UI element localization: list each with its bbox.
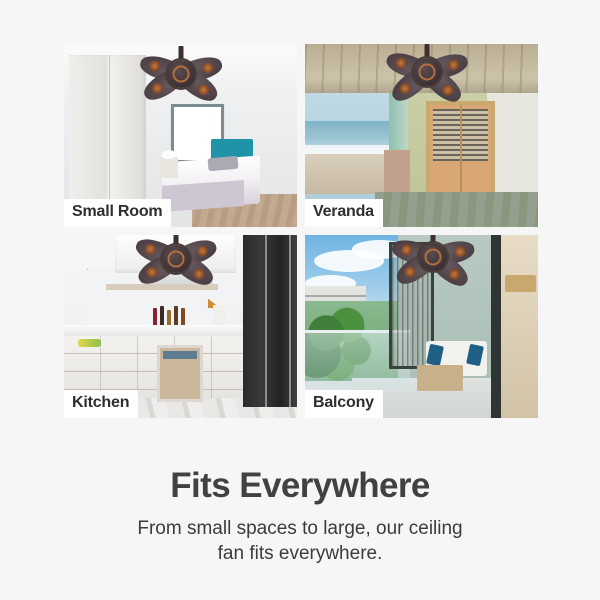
ceiling-fan-icon xyxy=(128,46,234,102)
nightstand xyxy=(160,157,179,177)
subheadline: From small spaces to large, our ceiling … xyxy=(90,516,510,566)
fan-downrod xyxy=(173,235,178,245)
sliding-door-frame xyxy=(491,235,500,418)
fan-hub xyxy=(419,243,447,271)
fan-blade-accent xyxy=(144,265,159,280)
fan-blade-accent xyxy=(402,265,417,280)
bottle xyxy=(174,306,178,324)
fan-blade-accent xyxy=(453,245,466,258)
fan-hub xyxy=(167,60,195,88)
bottle xyxy=(153,308,157,324)
fan-blade-accent xyxy=(399,244,412,257)
fan-blade-accent xyxy=(397,81,412,96)
fan-blade-accent xyxy=(440,82,455,97)
fan-blade-accent xyxy=(150,81,165,96)
ceiling-fan-icon xyxy=(374,44,480,100)
door-louvers xyxy=(433,109,489,161)
room-panel-grid: Small Room xyxy=(64,44,538,418)
subheadline-line-2: fan fits everywhere. xyxy=(90,541,510,566)
panel-small-room[interactable]: Small Room xyxy=(64,44,297,227)
fan-downrod xyxy=(430,235,435,243)
panel-balcony[interactable]: Balcony xyxy=(305,235,538,418)
balcony-table xyxy=(417,365,464,391)
caption-block: Fits Everywhere From small spaces to lar… xyxy=(0,468,600,566)
fan-blade-accent xyxy=(195,244,209,258)
indoor-lamp xyxy=(505,275,535,291)
fan-blade-accent xyxy=(191,266,206,281)
fruit-bowl xyxy=(78,339,101,346)
decor-vase xyxy=(213,305,225,325)
promo-canvas: Small Room xyxy=(0,0,600,600)
fan-blade-accent xyxy=(393,57,407,71)
fan-downrod xyxy=(424,44,429,58)
fan-blade-accent xyxy=(446,58,460,72)
panel-label: Veranda xyxy=(313,204,374,221)
panel-veranda[interactable]: Veranda xyxy=(305,44,538,227)
kitchen-oven xyxy=(157,345,203,402)
bottle xyxy=(167,310,171,325)
fan-downrod xyxy=(178,46,183,60)
indoor-room xyxy=(501,235,538,418)
fan-hub xyxy=(162,245,190,273)
panel-label: Small Room xyxy=(72,204,162,221)
fan-blade-accent xyxy=(143,243,157,257)
panel-label-chip: Small Room xyxy=(64,199,171,227)
panel-label-chip: Balcony xyxy=(305,390,383,418)
ceiling-fan-icon xyxy=(123,235,229,287)
fan-blade-accent xyxy=(446,266,461,281)
subheadline-line-1: From small spaces to large, our ceiling xyxy=(90,516,510,541)
veranda-door xyxy=(426,101,495,204)
bottle xyxy=(181,308,185,324)
kitchen-tall-unit xyxy=(243,235,297,407)
table-lamp xyxy=(162,150,176,159)
headline: Fits Everywhere xyxy=(0,468,600,503)
panel-kitchen[interactable]: Kitchen xyxy=(64,235,297,418)
veranda-deck xyxy=(375,192,538,227)
fan-blade-accent xyxy=(201,61,214,74)
panel-label-chip: Veranda xyxy=(305,199,383,227)
fan-hub xyxy=(413,58,441,86)
panel-label: Balcony xyxy=(313,395,374,412)
bottle xyxy=(160,306,164,324)
fan-blade-accent xyxy=(147,60,161,74)
kitchen-countertop xyxy=(64,325,246,336)
veranda-pillar xyxy=(384,150,410,198)
ceiling-fan-icon xyxy=(380,235,486,285)
fan-blade-accent xyxy=(196,82,211,97)
panel-label: Kitchen xyxy=(72,395,129,412)
panel-label-chip: Kitchen xyxy=(64,390,138,418)
